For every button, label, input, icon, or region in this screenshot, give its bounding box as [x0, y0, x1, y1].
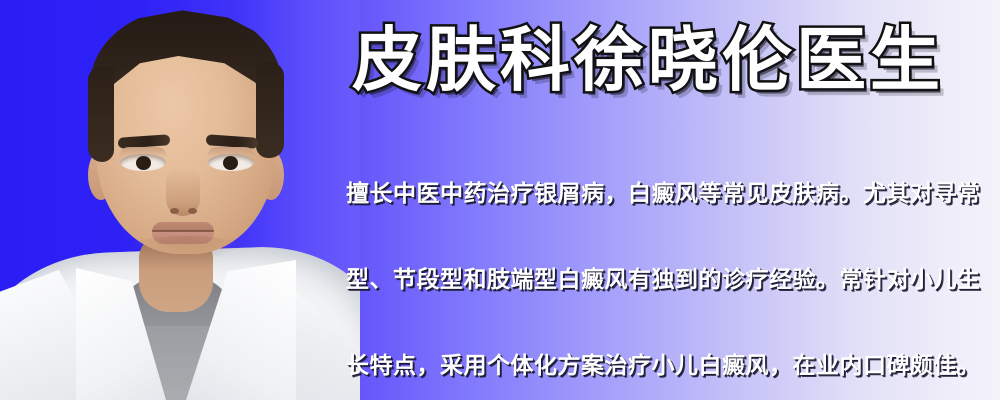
doctor-bio-text: 擅长中医中药治疗银屑病，白癜风等常见皮肤病。尤其对寻常 型、节段型和肢端型白癜风… [346, 130, 998, 400]
hair-left-side [88, 66, 114, 162]
doctor-portrait-photo [0, 0, 360, 400]
chin-shading [126, 236, 246, 262]
mouth-line [152, 230, 214, 232]
left-pupil [136, 156, 151, 170]
right-nostril [188, 208, 197, 214]
left-nostril [170, 208, 179, 214]
right-eyelid [207, 147, 255, 157]
doctor-profile-banner: 皮肤科徐晓伦医生 擅长中医中药治疗银屑病，白癜风等常见皮肤病。尤其对寻常 型、节… [0, 0, 1000, 400]
bio-line: 擅长中医中药治疗银屑病，白癜风等常见皮肤病。尤其对寻常 [346, 173, 998, 216]
hair-right-side [256, 62, 284, 158]
banner-title: 皮肤科徐晓伦医生 [352, 16, 1000, 104]
bio-line: 型、节段型和肢端型白癜风有独到的诊疗经验。常针对小儿生 [346, 259, 998, 302]
bio-line: 长特点，采用个体化方案治疗小儿白癜风，在业内口碑颇佳。 [346, 345, 998, 388]
right-pupil [223, 156, 238, 170]
left-eyelid [119, 147, 167, 157]
